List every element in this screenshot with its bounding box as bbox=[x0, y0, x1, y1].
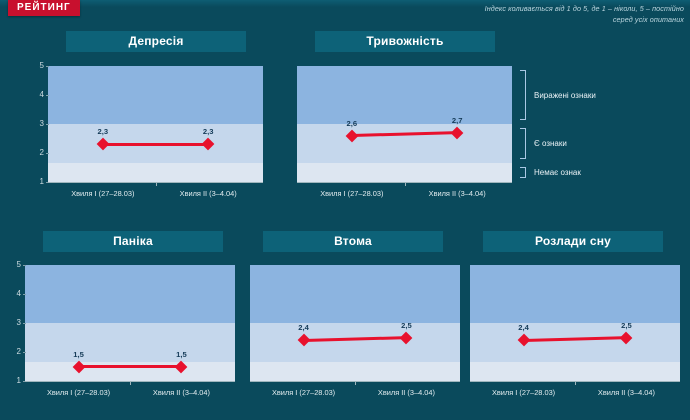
y-axis-tick: 3 bbox=[32, 120, 44, 128]
x-axis-label: Хвиля II (3–4.04) bbox=[126, 388, 236, 397]
data-series: 2,42,5 bbox=[250, 265, 460, 381]
chart-panel: Депресія2,32,354321Хвиля I (27–28.03)Хви… bbox=[0, 0, 690, 420]
x-axis-tick bbox=[575, 381, 576, 385]
x-axis-label: Хвиля I (27–28.03) bbox=[48, 189, 158, 198]
legend-label: Немає ознак bbox=[534, 168, 581, 177]
x-axis-tick bbox=[130, 381, 131, 385]
y-axis-tick: 5 bbox=[9, 261, 21, 269]
x-axis bbox=[250, 381, 460, 382]
severity-bands bbox=[470, 265, 680, 381]
y-axis: 54321 bbox=[7, 265, 21, 381]
data-point-marker bbox=[451, 126, 464, 139]
chart-panel: Паніка1,51,554321Хвиля I (27–28.03)Хвиля… bbox=[0, 0, 690, 420]
y-axis-tick: 2 bbox=[32, 149, 44, 157]
x-axis bbox=[48, 182, 263, 183]
chart-panel: Розлади сну2,42,5Хвиля I (27–28.03)Хвиля… bbox=[0, 0, 690, 420]
chart-title: Депресія bbox=[66, 31, 246, 52]
chart-title: Паніка bbox=[43, 231, 223, 252]
data-point-marker bbox=[72, 360, 85, 373]
plot-area: 1,51,5 bbox=[25, 265, 235, 381]
legend-bracket-icon bbox=[520, 167, 526, 178]
trend-line bbox=[103, 143, 208, 146]
data-point-label: 2,5 bbox=[401, 321, 412, 330]
y-axis-tick: 4 bbox=[32, 91, 44, 99]
data-point-label: 2,3 bbox=[98, 127, 109, 136]
trend-line bbox=[79, 365, 182, 368]
note-line-2: серед усіх опитаних bbox=[454, 14, 684, 25]
y-axis-tick: 1 bbox=[32, 178, 44, 186]
x-axis-label: Хвиля II (3–4.04) bbox=[351, 388, 461, 397]
legend-item: Виражені ознаки bbox=[520, 70, 596, 120]
data-point-label: 2,7 bbox=[452, 116, 463, 125]
severity-bands bbox=[48, 66, 263, 182]
plot-area: 2,32,3 bbox=[48, 66, 263, 182]
legend-bracket-icon bbox=[520, 70, 526, 120]
chart-title: Втома bbox=[263, 231, 443, 252]
x-axis bbox=[297, 182, 512, 183]
data-point-label: 2,5 bbox=[621, 321, 632, 330]
severity-bands bbox=[25, 265, 235, 381]
trend-line bbox=[304, 336, 407, 342]
chart-panel: Втома2,42,5Хвиля I (27–28.03)Хвиля II (3… bbox=[0, 0, 690, 420]
chart-title: Розлади сну bbox=[483, 231, 663, 252]
data-point-label: 1,5 bbox=[73, 350, 84, 359]
data-point-label: 2,4 bbox=[518, 323, 529, 332]
y-axis-tick: 5 bbox=[32, 62, 44, 70]
y-axis: 54321 bbox=[30, 66, 44, 182]
severity-bands bbox=[297, 66, 512, 182]
x-axis-label: Хвиля II (3–4.04) bbox=[571, 388, 681, 397]
x-axis bbox=[25, 381, 235, 382]
plot-area: 2,42,5 bbox=[250, 265, 460, 381]
y-axis-tick: 2 bbox=[9, 348, 21, 356]
x-axis-label: Хвиля I (27–28.03) bbox=[249, 388, 359, 397]
data-point-marker bbox=[345, 129, 358, 142]
plot-area: 2,62,7 bbox=[297, 66, 512, 182]
x-axis-tick bbox=[355, 381, 356, 385]
legend-bracket-icon bbox=[520, 128, 526, 159]
x-axis bbox=[470, 381, 680, 382]
y-axis-tick: 1 bbox=[9, 377, 21, 385]
note-line-1: Індекс коливається від 1 до 5, де 1 – ні… bbox=[454, 3, 684, 14]
chart-panel: Тривожність2,62,7Хвиля I (27–28.03)Хвиля… bbox=[0, 0, 690, 420]
data-series: 2,62,7 bbox=[297, 66, 512, 182]
data-series: 2,32,3 bbox=[48, 66, 263, 182]
x-axis-tick bbox=[156, 182, 157, 186]
data-point-label: 2,4 bbox=[298, 323, 309, 332]
data-point-marker bbox=[202, 138, 215, 151]
x-axis-tick bbox=[405, 182, 406, 186]
legend-label: Є ознаки bbox=[534, 139, 567, 148]
legend-item: Немає ознак bbox=[520, 167, 581, 178]
chart-title: Тривожність bbox=[315, 31, 495, 52]
plot-area: 2,42,5 bbox=[470, 265, 680, 381]
data-point-marker bbox=[400, 331, 413, 344]
data-point-label: 2,3 bbox=[203, 127, 214, 136]
trend-line bbox=[352, 131, 457, 137]
data-point-label: 2,6 bbox=[347, 119, 358, 128]
data-point-marker bbox=[96, 138, 109, 151]
x-axis-label: Хвиля I (27–28.03) bbox=[469, 388, 579, 397]
x-axis-label: Хвиля I (27–28.03) bbox=[24, 388, 134, 397]
data-point-marker bbox=[175, 360, 188, 373]
legend-item: Є ознаки bbox=[520, 128, 567, 159]
y-axis-tick: 4 bbox=[9, 290, 21, 298]
data-series: 2,42,5 bbox=[470, 265, 680, 381]
data-point-marker bbox=[620, 331, 633, 344]
data-series: 1,51,5 bbox=[25, 265, 235, 381]
data-point-marker bbox=[297, 334, 310, 347]
data-point-marker bbox=[517, 334, 530, 347]
trend-line bbox=[524, 336, 627, 342]
y-axis-tick: 3 bbox=[9, 319, 21, 327]
x-axis-label: Хвиля I (27–28.03) bbox=[297, 189, 407, 198]
x-axis-label: Хвиля II (3–4.04) bbox=[153, 189, 263, 198]
x-axis-label: Хвиля II (3–4.04) bbox=[402, 189, 512, 198]
legend-label: Виражені ознаки bbox=[534, 91, 596, 100]
index-explanation-note: Індекс коливається від 1 до 5, де 1 – ні… bbox=[454, 3, 684, 25]
severity-bands bbox=[250, 265, 460, 381]
brand-logo: РЕЙТИНГ bbox=[8, 0, 80, 16]
data-point-label: 1,5 bbox=[176, 350, 187, 359]
